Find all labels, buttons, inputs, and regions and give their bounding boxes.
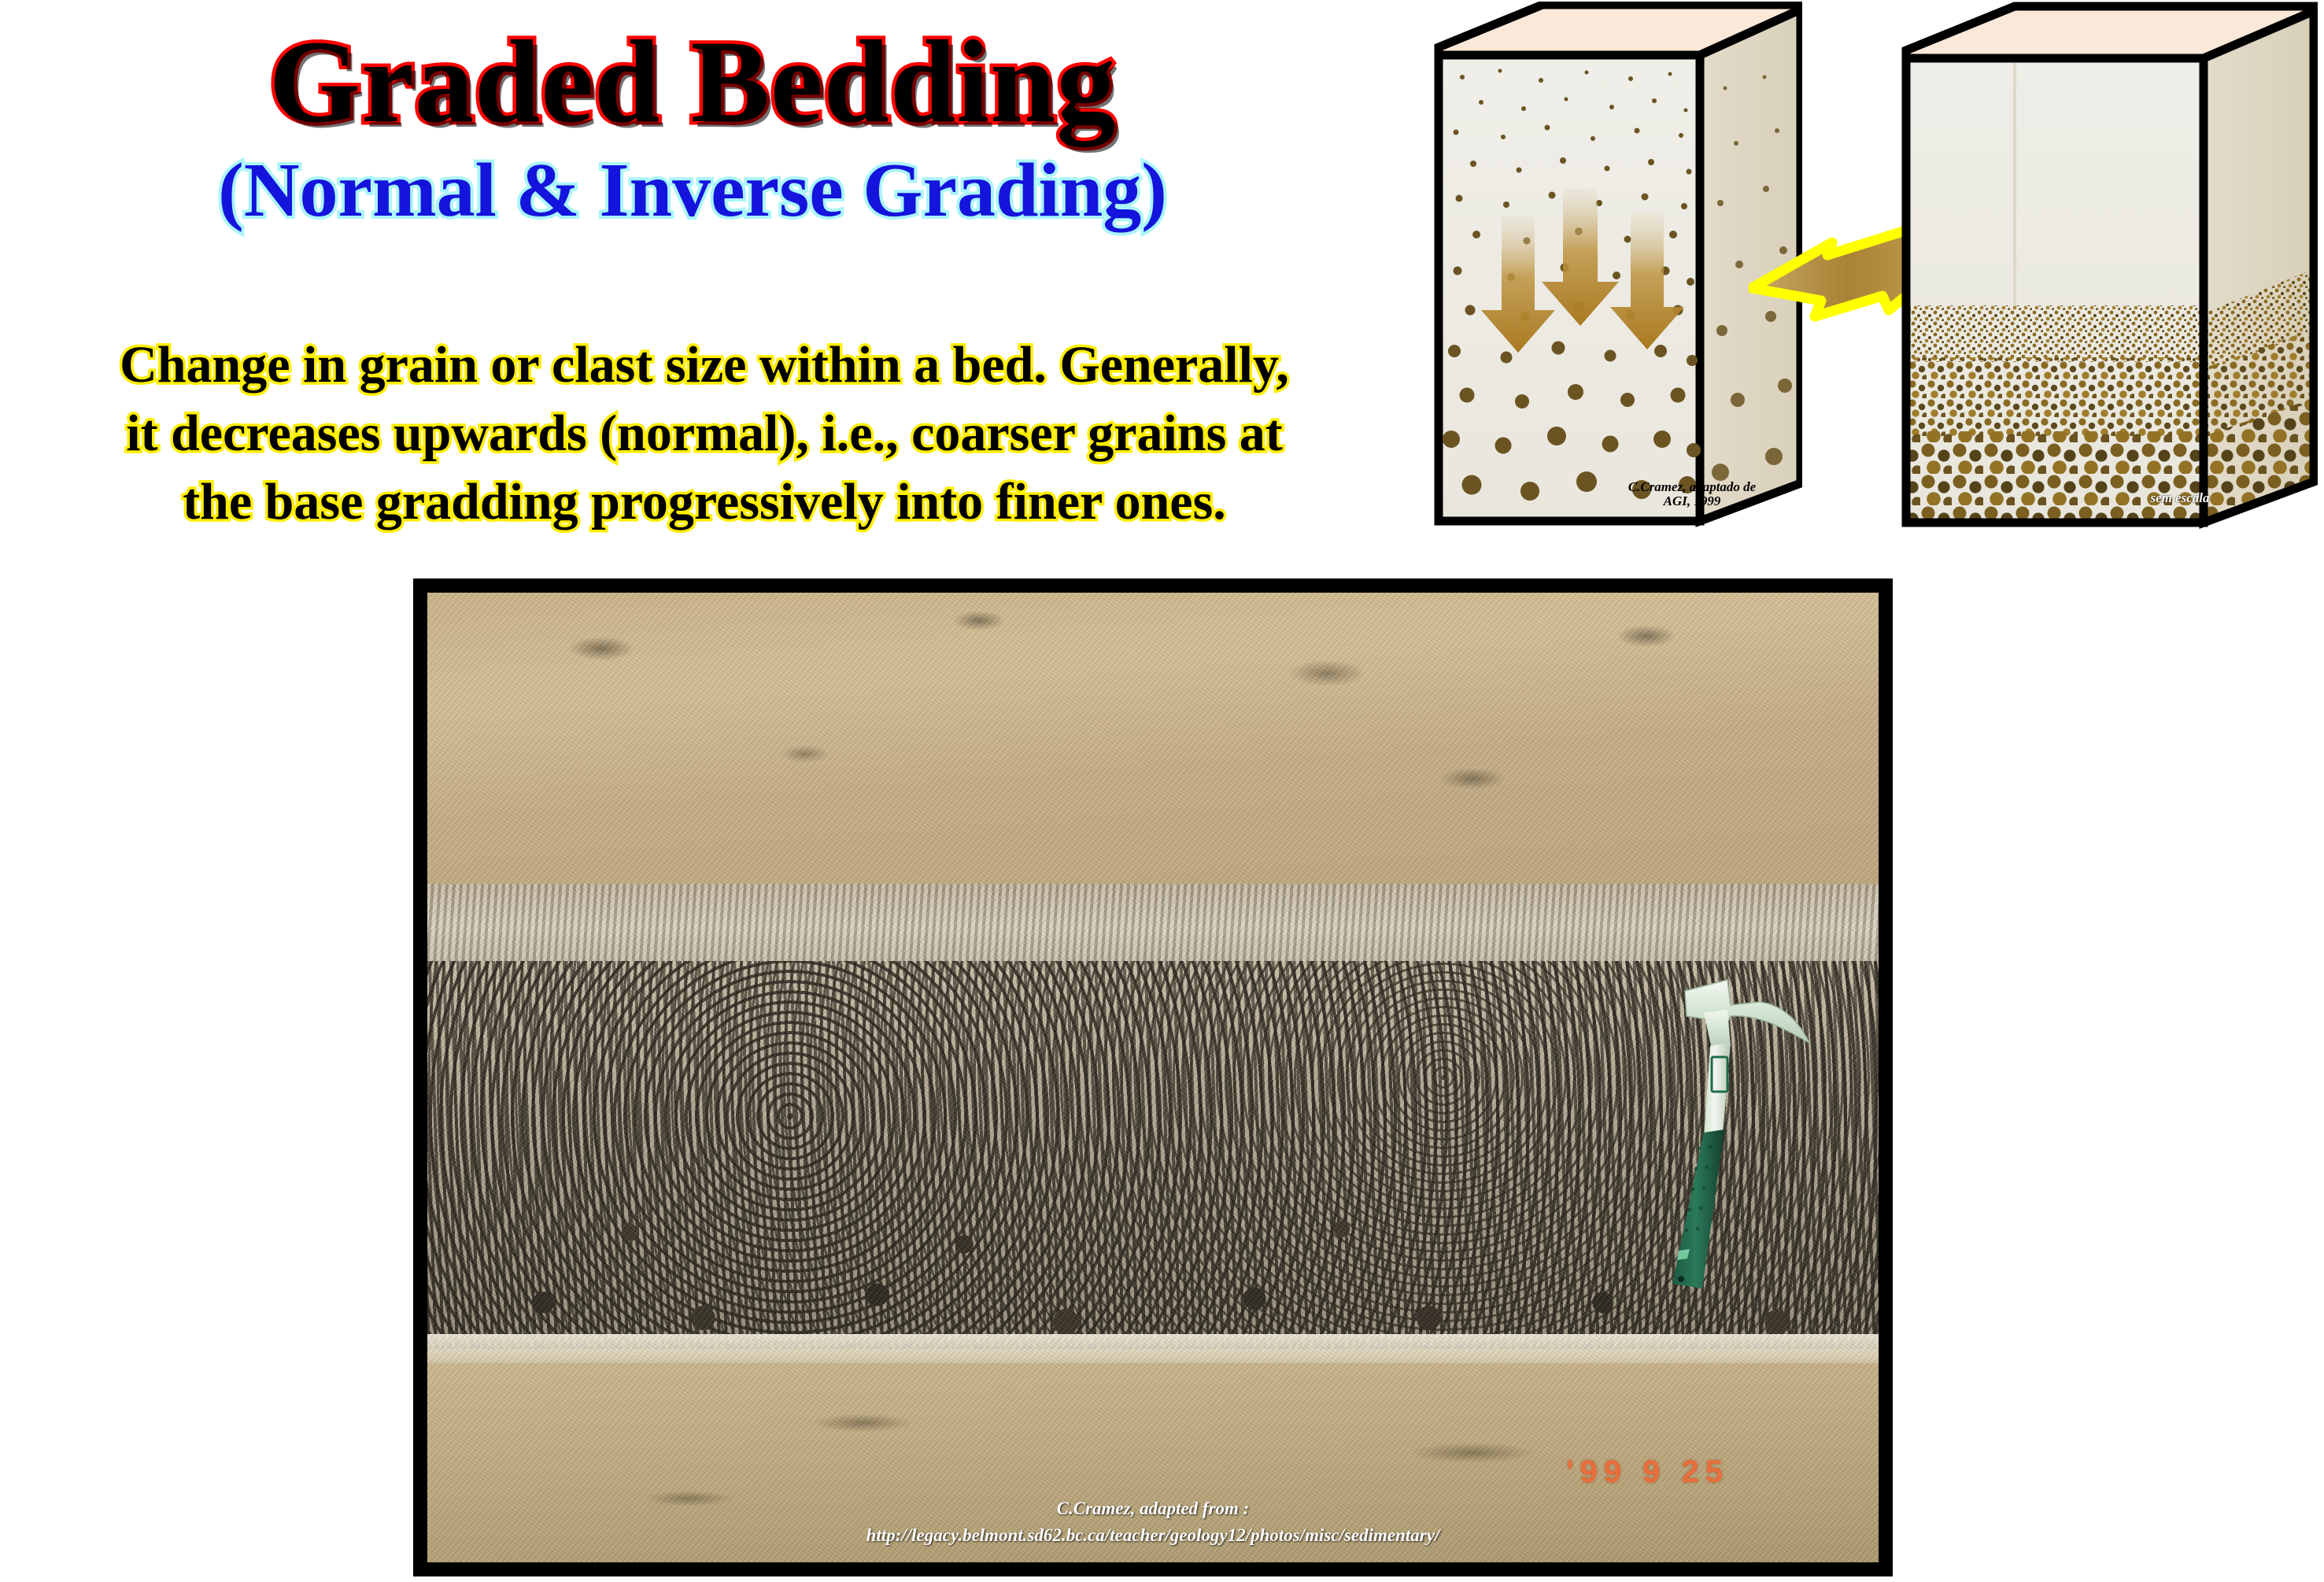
- description-line-1: Change in grain or clast size within a b…: [16, 331, 1393, 399]
- description-paragraph: Change in grain or clast size within a b…: [16, 331, 1393, 536]
- photo-layer-upper-sandstone: [427, 593, 1879, 903]
- graded-bedding-outcrop-photo: '99 9 25 C.Cramez, adapted from : http:/…: [427, 593, 1879, 1562]
- rock-hammer-scale-object: [1655, 970, 1820, 1301]
- photo-layer-lower-sandstone: [427, 1363, 1879, 1562]
- outcrop-photo-frame: '99 9 25 C.Cramez, adapted from : http:/…: [413, 578, 1893, 1576]
- description-line-2: it decreases upwards (normal), i.e., coa…: [16, 399, 1393, 468]
- description-line-3: the base gradding progressively into fin…: [16, 468, 1393, 536]
- page-subtitle: (Normal & Inverse Grading): [0, 150, 1385, 231]
- page-title: Graded Bedding: [0, 22, 1385, 142]
- graded-deposit-cube: [1889, 2, 2318, 537]
- title-block: Graded Bedding (Normal & Inverse Grading…: [0, 22, 1385, 231]
- suspension-settling-cube: [1424, 2, 1802, 537]
